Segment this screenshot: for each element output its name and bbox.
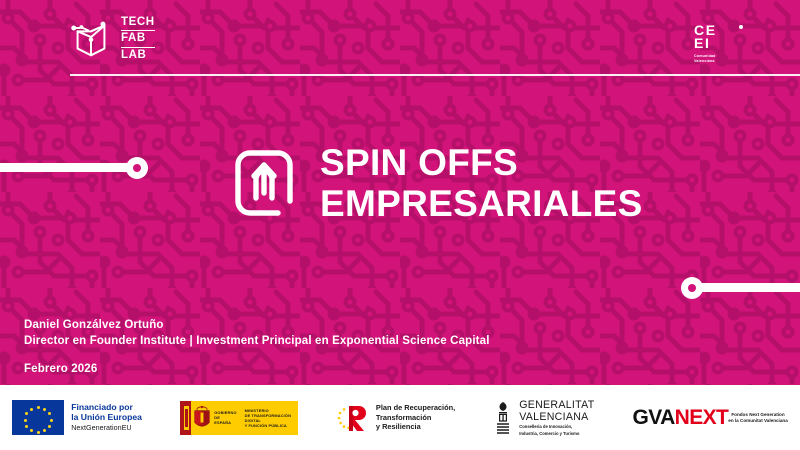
- ceei-subtitle: Comunidad Valenciana: [694, 54, 742, 63]
- arrow-up-in-rounded-square-icon: [234, 149, 294, 217]
- title-line-1: SPIN OFFS: [320, 142, 643, 183]
- techfablab-logo[interactable]: TECH FAB LAB: [68, 11, 188, 67]
- ministerio-line-2: DE TRANSFORMACIÓN DIGITAL: [245, 413, 298, 423]
- gva-line-1: GENERALITAT: [519, 399, 594, 411]
- techfablab-line-3: LAB: [121, 48, 155, 63]
- gva-line-2: VALENCIANA: [519, 411, 594, 423]
- eu-label-line-2: la Unión Europea: [71, 412, 142, 422]
- ministerio-line-3: Y FUNCIÓN PÚBLICA: [245, 423, 298, 428]
- decorative-node-left: [126, 157, 148, 179]
- speaker-block: Daniel Gonzálvez Ortuño Director en Foun…: [24, 318, 490, 375]
- eu-flag-icon: [12, 400, 64, 435]
- logo-european-union: Financiado por la Unión Europea NextGene…: [12, 400, 142, 435]
- ceei-line-2: EI: [694, 37, 742, 50]
- presentation-date: Febrero 2026: [24, 363, 490, 375]
- prtr-r-icon: [336, 402, 370, 434]
- presentation-slide: TECH FAB LAB CE EI Comunidad Valenciana: [0, 0, 800, 450]
- ceei-monogram: CE EI: [694, 24, 742, 52]
- gvanext-sub-2: en la Comunitat Valenciana: [728, 418, 787, 424]
- techfablab-line-1: TECH: [121, 15, 155, 30]
- header-divider: [70, 74, 800, 76]
- eu-label-line-3: NextGenerationEU: [71, 423, 142, 433]
- prtr-label: Plan de Recuperación, Transformación y R…: [376, 403, 455, 431]
- prtr-line-1: Plan de Recuperación,: [376, 403, 455, 412]
- speaker-role: Director en Founder Institute | Investme…: [24, 334, 490, 350]
- spain-coat-of-arms-icon: [191, 401, 212, 435]
- decorative-node-right: [681, 277, 703, 299]
- gobierno-label: GOBIERNO DE ESPAÑA: [214, 410, 236, 425]
- speaker-name: Daniel Gonzálvez Ortuño: [24, 318, 490, 334]
- eu-label-line-1: Financiado por: [71, 402, 142, 412]
- prtr-line-3: y Resiliencia: [376, 422, 455, 431]
- gvanext-subtitle: Fondos Next Generation en la Comunitat V…: [728, 412, 787, 424]
- ministerio-label: MINISTERIO DE TRANSFORMACIÓN DIGITAL Y F…: [245, 408, 298, 428]
- logo-plan-de-recuperacion: Plan de Recuperación, Transformación y R…: [336, 402, 455, 434]
- gva-subtitle: Conselleria de Innovación, Industria, Co…: [519, 424, 594, 436]
- ceei-dot-icon: [739, 25, 743, 29]
- hero-background: TECH FAB LAB CE EI Comunidad Valenciana: [0, 0, 800, 385]
- ceei-sub-2: Valenciana: [694, 59, 742, 64]
- title-line-2: EMPRESARIALES: [320, 183, 643, 224]
- techfablab-line-2: FAB: [121, 31, 155, 46]
- slide-title-block: SPIN OFFS EMPRESARIALES: [234, 142, 643, 225]
- spain-flag-bar-icon: [180, 401, 191, 435]
- gvanext-wordmark: GVANEXT: [633, 407, 729, 429]
- gva-sub-1: Conselleria de Innovación,: [519, 424, 594, 429]
- cube-circuit-icon: [68, 16, 114, 62]
- ceei-logo[interactable]: CE EI Comunidad Valenciana: [694, 24, 742, 63]
- sponsor-footer: Financiado por la Unión Europea NextGene…: [0, 385, 800, 450]
- gvanext-part-2: NEXT: [675, 406, 729, 429]
- logo-generalitat-valenciana: GENERALITAT VALENCIANA Conselleria de In…: [493, 399, 594, 436]
- gvanext-part-1: GVA: [633, 406, 675, 429]
- logo-gva-next: GVANEXT Fondos Next Generation en la Com…: [633, 407, 788, 429]
- prtr-line-2: Transformación: [376, 413, 455, 422]
- gobierno-line-2: DE ESPAÑA: [214, 415, 236, 425]
- generalitat-crest-icon: [493, 401, 513, 435]
- gva-sub-2: Industria, Comercio y Turismo: [519, 431, 594, 436]
- logo-gobierno-de-espana: GOBIERNO DE ESPAÑA MINISTERIO DE TRANSFO…: [180, 401, 298, 435]
- page-title: SPIN OFFS EMPRESARIALES: [320, 142, 643, 225]
- gvanext-sub-1: Fondos Next Generation: [728, 412, 787, 418]
- decorative-trace-left: [0, 163, 132, 172]
- decorative-trace-right: [694, 283, 800, 292]
